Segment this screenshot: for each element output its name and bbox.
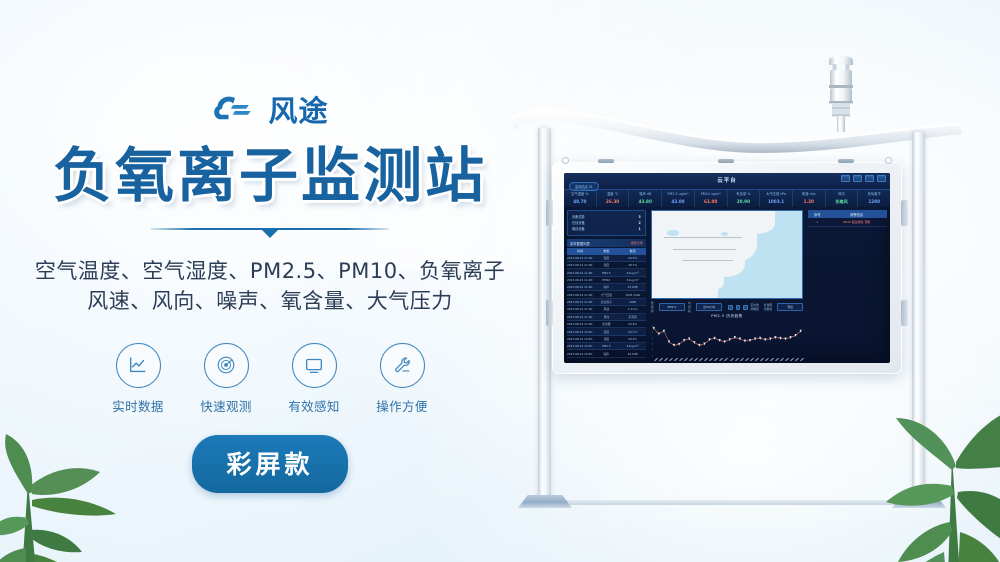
chart-metric-select[interactable]: PM2.5 [659, 303, 685, 311]
stat-label: 噪声 dB [629, 192, 661, 196]
table-cell: 湿度 [593, 263, 619, 267]
stat-card: PM2.5 ug/m³ 43.00 [662, 190, 695, 207]
table-cell: 2023-08-21 10:55:01 [567, 337, 593, 341]
stat-strip: 空气湿度 % 48.70 温度 ℃ 26.30 噪声 dB 43.80 PM2.… [564, 190, 890, 207]
data-table-body: 2023-08-21 11:00:01温度26.3℃2023-08-21 11:… [567, 255, 646, 358]
stat-label: 氧含量 % [728, 192, 760, 196]
stat-value: 20.90 [728, 199, 760, 204]
feature-label: 操作方便 [376, 396, 428, 415]
table-cell: 2023-08-21 11:00:01 [567, 315, 593, 319]
cta-button[interactable]: 彩屏款 [192, 435, 347, 493]
data-table-header: 实时数据列表 报警记录 [567, 239, 646, 247]
stat-label: 温度 ℃ [597, 192, 629, 196]
product-illustration: 云平台 监测站点 01 空气湿度 % 48.70 温度 [500, 40, 970, 540]
chart-range-select[interactable]: 近24小时 [696, 303, 722, 311]
chart-x-tick [801, 358, 805, 361]
alarm-message: PM10 超出阈值 预警 [826, 220, 887, 224]
china-region-map[interactable] [651, 210, 803, 299]
table-cell: 2023-08-21 11:00:01 [567, 285, 593, 289]
stat-label: 负氧离子 [858, 192, 890, 196]
hero-text-column: 风途 负氧离子监测站 空气温度、空气湿度、PM2.5、PM10、负氧离子 风速、… [0, 0, 540, 562]
hero-subtitle: 空气温度、空气湿度、PM2.5、PM10、负氧离子 风速、风向、噪声、氧含量、大… [35, 256, 505, 317]
stat-value: 1003.1 [760, 199, 792, 204]
monitor-icon [303, 354, 325, 376]
column-header: 类型 [593, 249, 619, 253]
table-cell: 44ug/m³ [620, 344, 646, 348]
ultrasonic-weather-sensor [820, 54, 862, 132]
table-row[interactable]: 2023-08-21 11:00:01PM1061ug/m³ [567, 277, 646, 284]
stat-value: 43.00 [662, 199, 694, 204]
cabinet-mount-right [901, 200, 908, 226]
dashboard-screen[interactable]: 云平台 监测站点 01 空气湿度 % 48.70 温度 [564, 173, 890, 363]
table-cell: 61ug/m³ [620, 278, 646, 282]
table-cell: 氧含量 [593, 322, 619, 326]
export-tool-icon[interactable] [877, 175, 886, 182]
dashboard-header: 云平台 监测站点 01 [564, 173, 890, 190]
chart-view-bar-button[interactable] [728, 305, 732, 310]
base-plate-right [892, 495, 946, 508]
table-cell: 2023-08-21 11:00:01 [567, 307, 593, 311]
feature-label: 实时数据 [112, 396, 164, 415]
table-cell: 风速 [593, 307, 619, 311]
title-divider [151, 224, 389, 240]
alarm-tag[interactable]: 报警记录 [631, 241, 643, 245]
divider-arrow-icon [261, 229, 279, 238]
cabinet-vent-2 [718, 159, 734, 163]
chart-toolbar: 监测项 PM2.5 时间段 近24小时 实时监测数值 标准限值数值 导出 [651, 301, 803, 313]
table-cell: PM2.5 [593, 344, 619, 348]
radar-scan-icon [215, 354, 237, 376]
stat-card: 风速 m/s 1.20 [793, 190, 826, 207]
stat-card: 温度 ℃ 26.30 [597, 190, 630, 207]
summary-row: 离线设备 1 [572, 226, 641, 232]
zoom-tool-icon[interactable] [853, 175, 862, 182]
column-header: 序号 [808, 212, 826, 217]
table-cell: 温度 [593, 330, 619, 334]
table-row[interactable]: 2023-08-21 10:55:01噪声42.6dB [567, 350, 646, 357]
stat-card: 大气压强 hPa 1003.1 [760, 190, 793, 207]
table-cell: 2023-08-21 11:00:01 [567, 263, 593, 267]
table-cell: 26.3℃ [620, 256, 646, 260]
table-row[interactable]: 2023-08-21 11:00:01湿度48.7% [567, 262, 646, 269]
stat-card: PM10 ug/m³ 61.00 [695, 190, 728, 207]
table-cell: 噪声 [593, 285, 619, 289]
table-cell: 20.9% [620, 322, 646, 326]
chart-export-button[interactable]: 导出 [777, 303, 803, 311]
dashboard-left-panel: 设备总数 3 在线设备 2 离线设备 1 [564, 207, 649, 363]
table-row[interactable]: 2023-08-21 11:00:01负氧离子1280 [567, 299, 646, 306]
alarm-row: 1 PM10 超出阈值 预警 [808, 219, 887, 227]
wrench-icon [391, 354, 413, 376]
table-row[interactable]: 2023-08-21 11:00:01氧含量20.9% [567, 321, 646, 328]
trend-line-chart [651, 320, 803, 360]
feature-label: 快速观测 [200, 396, 252, 415]
product-banner: 风途 负氧离子监测站 空气温度、空气湿度、PM2.5、PM10、负氧离子 风速、… [0, 0, 1000, 562]
summary-key: 离线设备 [572, 226, 585, 232]
table-cell: 东南风 [620, 315, 646, 319]
table-cell: 43.8dB [620, 285, 646, 289]
stat-label: PM2.5 ug/m³ [662, 192, 694, 196]
display-cabinet: 云平台 监测站点 01 空气湿度 % 48.70 温度 [552, 162, 902, 374]
cabinet-vent-3 [838, 159, 854, 163]
chart-legend-2: 标准限值数值 [764, 303, 774, 311]
stat-card: 风向 东南风 [826, 190, 859, 207]
stat-label: 空气湿度 % [564, 192, 596, 196]
cabinet-mount-right-lower [901, 300, 908, 326]
line-chart-icon [127, 354, 149, 376]
stat-value: 48.70 [564, 199, 596, 204]
table-row[interactable]: 2023-08-21 10:55:01湿度49.2% [567, 336, 646, 343]
stat-value: 26.30 [597, 199, 629, 204]
filter-tool-icon[interactable] [865, 175, 874, 182]
table-row[interactable]: 2023-08-21 10:55:01PM2.544ug/m³ [567, 343, 646, 350]
cabinet-hook-right [885, 157, 892, 164]
table-cell: 43ug/m³ [620, 271, 646, 275]
cabinet-mount-left [546, 200, 553, 226]
table-cell: 2023-08-21 11:00:01 [567, 293, 593, 297]
chart-legend-1: 实时监测数值 [751, 303, 761, 311]
stat-label: 大气压强 hPa [760, 192, 792, 196]
table-cell: 48.7% [620, 263, 646, 267]
chart-view-line-button[interactable] [736, 305, 740, 310]
feature-icon-circle [380, 343, 425, 388]
table-cell: 大气压强 [593, 293, 619, 297]
feature-list: 实时数据 快速观测 [107, 343, 433, 415]
table-cell: 1280 [620, 300, 646, 304]
table-cell: 温度 [593, 256, 619, 260]
brand-name: 风途 [268, 97, 328, 126]
dashboard-title: 云平台 [717, 176, 737, 184]
stat-card: 空气湿度 % 48.70 [564, 190, 597, 207]
table-cell: 2023-08-21 10:55:01 [567, 352, 593, 356]
table-cell: 2023-08-21 10:55:01 [567, 344, 593, 348]
feature-icon-circle [292, 343, 337, 388]
alarm-table-columns: 序号 报警信息 [808, 210, 887, 218]
chart-title: PM2.5 历史趋势 [651, 314, 803, 319]
chart-select-label-1: 监测项 [651, 301, 656, 313]
feature-label: 有效感知 [288, 396, 340, 415]
page-title: 负氧离子监测站 [53, 144, 487, 208]
layer-tool-icon[interactable] [841, 175, 850, 182]
table-cell: 1.2m/s [620, 307, 646, 311]
table-cell: 49.2% [620, 337, 646, 341]
stat-value: 61.00 [695, 199, 727, 204]
table-row[interactable]: 2023-08-21 11:00:01风速1.2m/s [567, 306, 646, 313]
table-row[interactable]: 2023-08-21 10:55:01温度26.1℃ [567, 328, 646, 335]
dashboard-body: 设备总数 3 在线设备 2 离线设备 1 [564, 207, 890, 363]
base-plate-left [518, 495, 572, 508]
alarm-index: 1 [808, 220, 826, 224]
table-cell: 风向 [593, 315, 619, 319]
dashboard-center-panel: 监测项 PM2.5 时间段 近24小时 实时监测数值 标准限值数值 导出 [649, 207, 805, 363]
feature-icon-circle [116, 343, 161, 388]
wind-cloud-logo-icon [211, 92, 259, 130]
table-cell: 湿度 [593, 337, 619, 341]
device-summary: 设备总数 3 在线设备 2 离线设备 1 [567, 210, 646, 236]
subtitle-line-1: 空气温度、空气湿度、PM2.5、PM10、负氧离子 [35, 256, 505, 286]
wave-canopy [510, 98, 965, 154]
stat-card: 噪声 dB 43.80 [629, 190, 662, 207]
feature-item-realtime-data[interactable]: 实时数据 [107, 343, 169, 415]
stat-label: 风速 m/s [793, 192, 825, 196]
data-table-title: 实时数据列表 [570, 241, 590, 246]
stat-value: 1.20 [793, 199, 825, 204]
feature-item-effective-sensing[interactable]: 有效感知 [283, 343, 345, 415]
table-cell: PM10 [593, 278, 619, 282]
stat-value: 43.80 [629, 199, 661, 204]
chart-area [651, 320, 803, 360]
stat-value: 东南风 [826, 199, 858, 205]
site-chip[interactable]: 监测站点 01 [569, 182, 599, 191]
table-cell: 42.6dB [620, 352, 646, 356]
chart-refresh-button[interactable] [743, 305, 747, 310]
feature-item-easy-operation[interactable]: 操作方便 [371, 343, 433, 415]
stat-card: 负氧离子 1280 [858, 190, 890, 207]
table-row[interactable]: 2023-08-21 11:00:01PM2.543ug/m³ [567, 269, 646, 276]
table-row[interactable]: 2023-08-21 11:00:01风向东南风 [567, 314, 646, 321]
cabinet-mount-left-lower [546, 300, 553, 326]
table-row[interactable]: 2023-08-21 11:00:01大气压强1003.1hPa [567, 291, 646, 298]
table-cell: 2023-08-21 10:55:01 [567, 330, 593, 334]
stat-value: 1280 [858, 199, 890, 204]
support-post-right [912, 132, 925, 500]
dashboard-toolbar [841, 175, 886, 182]
feature-icon-circle [204, 343, 249, 388]
table-cell: 2023-08-21 11:00:01 [567, 300, 593, 304]
stat-label: 风向 [826, 192, 858, 196]
table-cell: 2023-08-21 11:00:01 [567, 278, 593, 282]
stat-label: PM10 ug/m³ [695, 192, 727, 196]
table-row[interactable]: 2023-08-21 11:00:01噪声43.8dB [567, 284, 646, 291]
column-header: 时间 [567, 249, 593, 253]
column-header: 报警信息 [826, 212, 887, 217]
brand-logo: 风途 [211, 92, 328, 130]
table-cell: 2023-08-21 11:00:01 [567, 271, 593, 275]
table-cell: 负氧离子 [593, 300, 619, 304]
feature-item-fast-observation[interactable]: 快速观测 [195, 343, 257, 415]
table-cell: 26.1℃ [620, 330, 646, 334]
subtitle-line-2: 风速、风向、噪声、氧含量、大气压力 [35, 286, 505, 316]
chart-select-label-2: 时间段 [688, 301, 693, 313]
dashboard-right-panel: 序号 报警信息 1 PM10 超出阈值 预警 [805, 207, 890, 363]
stat-card: 氧含量 % 20.90 [728, 190, 761, 207]
ground-bar [542, 500, 912, 505]
table-cell: 2023-08-21 11:00:01 [567, 256, 593, 260]
cabinet-vent-1 [598, 159, 614, 163]
summary-value: 1 [639, 226, 641, 232]
table-cell: PM2.5 [593, 271, 619, 275]
table-cell: 1003.1hPa [620, 293, 646, 297]
cabinet-hook-left [562, 157, 569, 164]
table-cell: 噪声 [593, 352, 619, 356]
table-cell: 2023-08-21 11:00:01 [567, 322, 593, 326]
column-header: 数值 [620, 249, 646, 253]
table-row[interactable]: 2023-08-21 11:00:01温度26.3℃ [567, 255, 646, 262]
